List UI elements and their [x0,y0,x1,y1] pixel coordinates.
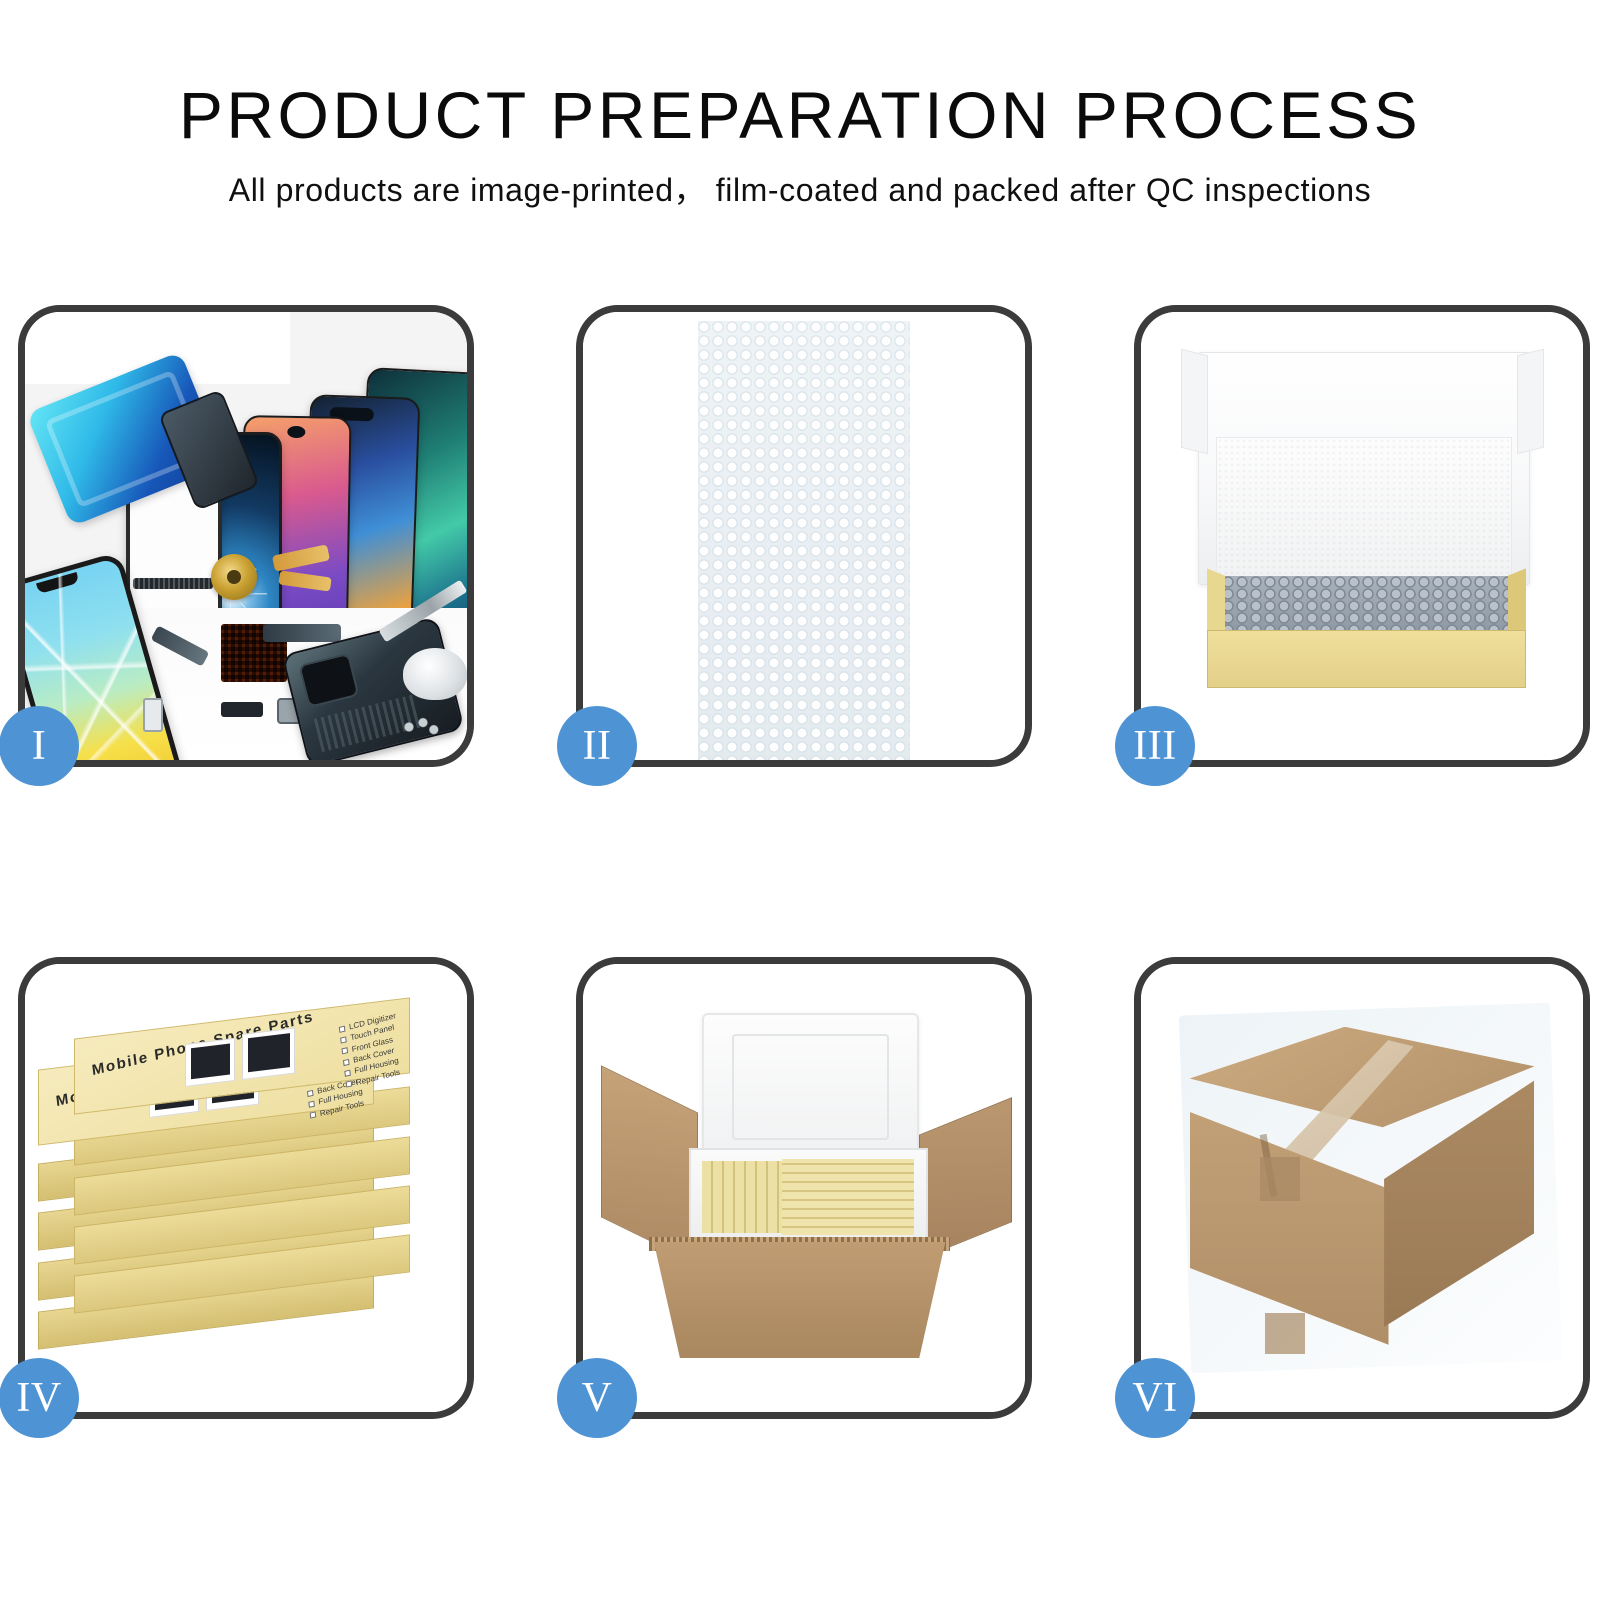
checkbox-icon [343,1059,350,1066]
checkbox-icon [340,1036,347,1043]
checkbox-icon [339,1025,346,1032]
checkbox-icon [309,1101,316,1108]
checkbox-icon [346,1081,353,1088]
gold-boxes-inside-right [782,1159,915,1235]
step-badge-2: II [557,706,637,786]
panel-5-image [583,964,1025,1412]
page-subtitle: All products are image-printed， film-coa… [0,174,1600,206]
step-badge-5: V [557,1358,637,1438]
foam-insert [1216,437,1512,585]
step-badge-4: IV [0,1358,79,1438]
carton-flap-left [601,1066,698,1266]
bubble-texture-overlay [698,321,910,760]
process-step-panel-4: Mobile Phone Spare Parts LCD Digitizer T… [18,957,474,1419]
carton-tab-upper [1260,1157,1300,1202]
retail-box-product-photo-1 [185,1037,235,1086]
product-preparation-infographic: PRODUCT PREPARATION PROCESS All products… [0,0,1600,1600]
process-step-panel-6: VI [1134,957,1590,1419]
header: PRODUCT PREPARATION PROCESS All products… [0,0,1600,206]
checkbox-icon [308,1090,315,1097]
foam-cooler-lid [702,1013,919,1161]
sim-tray-component [143,698,163,732]
process-step-panel-2: II [576,305,1032,767]
panel-1-image [25,312,467,760]
retail-box-checklist: LCD Digitizer Touch Panel Front Glass Ba… [338,1010,403,1091]
carton-body [654,1242,946,1358]
process-steps-grid: I II [18,305,1590,1445]
process-step-panel-1: I [18,305,474,767]
retail-box-product-photo-2 [242,1027,295,1080]
flex-cable-3 [263,624,341,642]
lid-flap-left [1181,349,1208,454]
step-badge-1: I [0,706,79,786]
gold-tray-left-wall [1207,568,1225,638]
gold-tray-front [1207,630,1525,688]
phone-camera-hole-icon [287,426,305,438]
step-badge-6: VI [1115,1358,1195,1438]
screws-icon [401,716,441,738]
carton-tab-lower [1265,1313,1305,1353]
panel-3-image [1141,312,1583,760]
process-step-panel-5: V [576,957,1032,1419]
page-title: PRODUCT PREPARATION PROCESS [0,82,1600,148]
wireless-charging-coil [211,554,257,600]
step-badge-3: III [1115,706,1195,786]
battery-connector-component [221,702,263,717]
phone-screen-thumbnail [247,1033,289,1072]
panel-2-image [583,312,1025,760]
cleaning-brush-icon [403,648,467,700]
phone-screen-thumbnail [190,1043,229,1079]
bubble-wrap-bag [698,321,910,760]
process-step-panel-3: III [1134,305,1590,767]
checkbox-icon [342,1048,349,1055]
gold-box-stack: Mobile Phone Spare Parts LCD Digitizer T… [25,964,467,1412]
panel-6-image [1141,964,1583,1412]
checkbox-icon [344,1070,351,1077]
carton-flap-right [919,1098,1012,1261]
gold-tray-right-wall [1508,568,1526,638]
bubble-wrap-layer [1221,576,1513,634]
checkbox-icon [310,1112,317,1119]
lid-flap-right [1517,349,1544,454]
speaker-component [133,578,213,589]
panel-4-image: Mobile Phone Spare Parts LCD Digitizer T… [25,964,467,1412]
